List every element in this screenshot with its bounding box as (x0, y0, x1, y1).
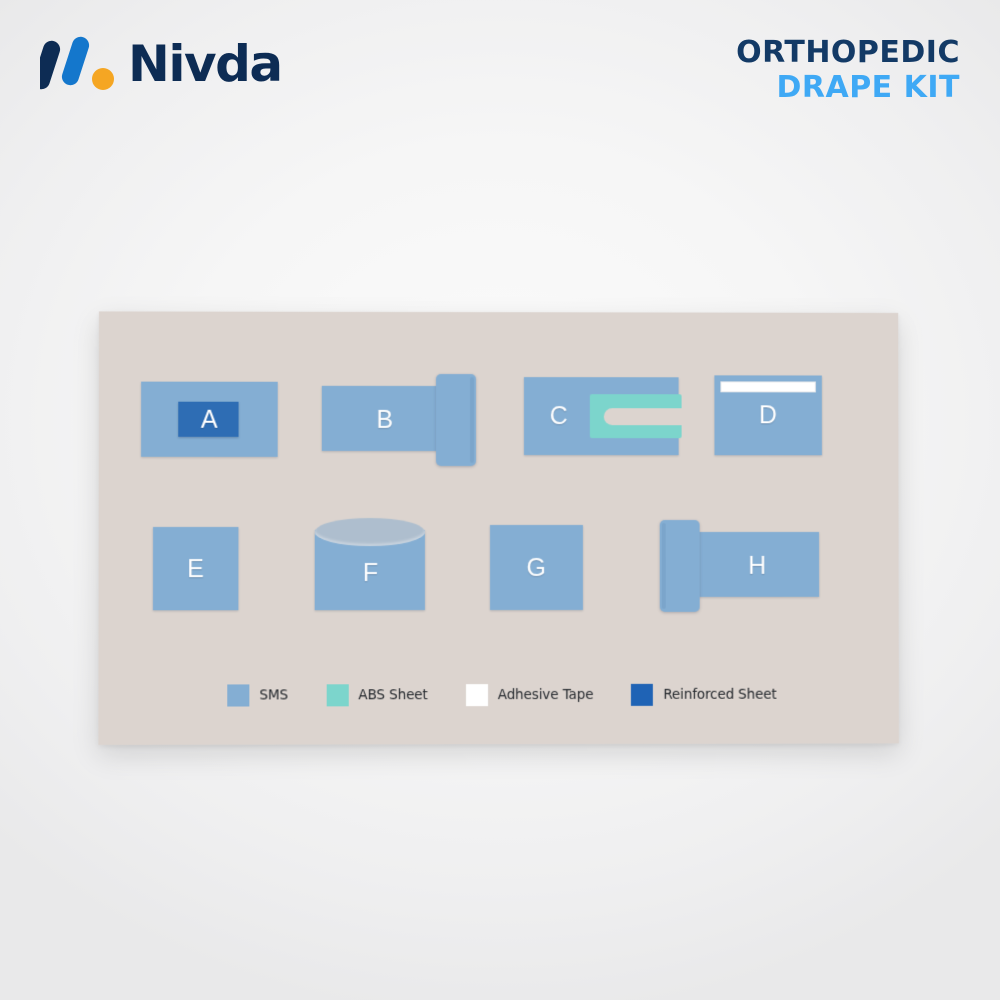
item-g-label: G (490, 553, 583, 582)
kit-title: ORTHOPEDIC DRAPE KIT (736, 36, 960, 105)
kit-item-e[interactable]: E (153, 527, 239, 610)
legend-swatch-sms-icon (227, 684, 249, 706)
kit-item-b[interactable]: B (322, 374, 482, 466)
item-e-label: E (153, 554, 238, 583)
kit-item-g[interactable]: G (490, 525, 583, 610)
nivda-logo-mark-icon (40, 32, 114, 94)
page-header: Nivda ORTHOPEDIC DRAPE KIT (0, 0, 1000, 130)
item-f-roll-top (315, 518, 425, 546)
kit-item-a[interactable]: A (141, 382, 278, 457)
kit-title-line-2: DRAPE KIT (736, 71, 960, 106)
item-a-reinforced-patch (178, 402, 238, 437)
kit-item-h[interactable]: H (660, 520, 819, 612)
kit-item-f[interactable]: F (315, 518, 427, 610)
legend-label-adhesive-tape: Adhesive Tape (498, 687, 594, 703)
item-h-body (696, 532, 820, 597)
kit-item-c[interactable]: C (524, 377, 679, 455)
kit-item-d[interactable]: D (714, 375, 822, 455)
legend-label-abs-sheet: ABS Sheet (358, 687, 427, 703)
legend-label-sms: SMS (259, 687, 288, 703)
item-d-label: D (714, 401, 821, 430)
kit-panel: A B C D (98, 311, 898, 745)
legend-label-reinforced-sheet: Reinforced Sheet (663, 687, 776, 703)
item-d-adhesive-tape (720, 381, 815, 392)
item-c-abs-fenestration (590, 394, 682, 438)
kit-diagram: A B C D (100, 312, 900, 744)
item-h-tab-edge (662, 523, 666, 609)
item-h-tab (660, 520, 700, 612)
legend-swatch-reinforced-sheet-icon (631, 684, 653, 706)
item-b-tab (436, 374, 476, 466)
legend-swatch-abs-sheet-icon (326, 684, 348, 706)
legend-item-reinforced-sheet: Reinforced Sheet (631, 684, 776, 706)
item-c-fenestration-slot (604, 408, 690, 425)
kit-title-line-1: ORTHOPEDIC (736, 36, 960, 71)
kit-panel-inner: A B C D (98, 311, 898, 745)
brand-lockup: Nivda (40, 32, 282, 94)
materials-legend: SMS ABS Sheet Adhesive Tape Reinforced S… (227, 684, 814, 707)
legend-swatch-adhesive-tape-icon (466, 684, 488, 706)
brand-name: Nivda (128, 39, 282, 89)
legend-item-abs-sheet: ABS Sheet (326, 684, 428, 706)
item-b-body (322, 386, 448, 451)
item-b-tab-edge (470, 377, 474, 463)
item-c-label: C (524, 402, 594, 431)
legend-item-sms: SMS (227, 684, 288, 706)
legend-item-adhesive-tape: Adhesive Tape (466, 684, 594, 706)
